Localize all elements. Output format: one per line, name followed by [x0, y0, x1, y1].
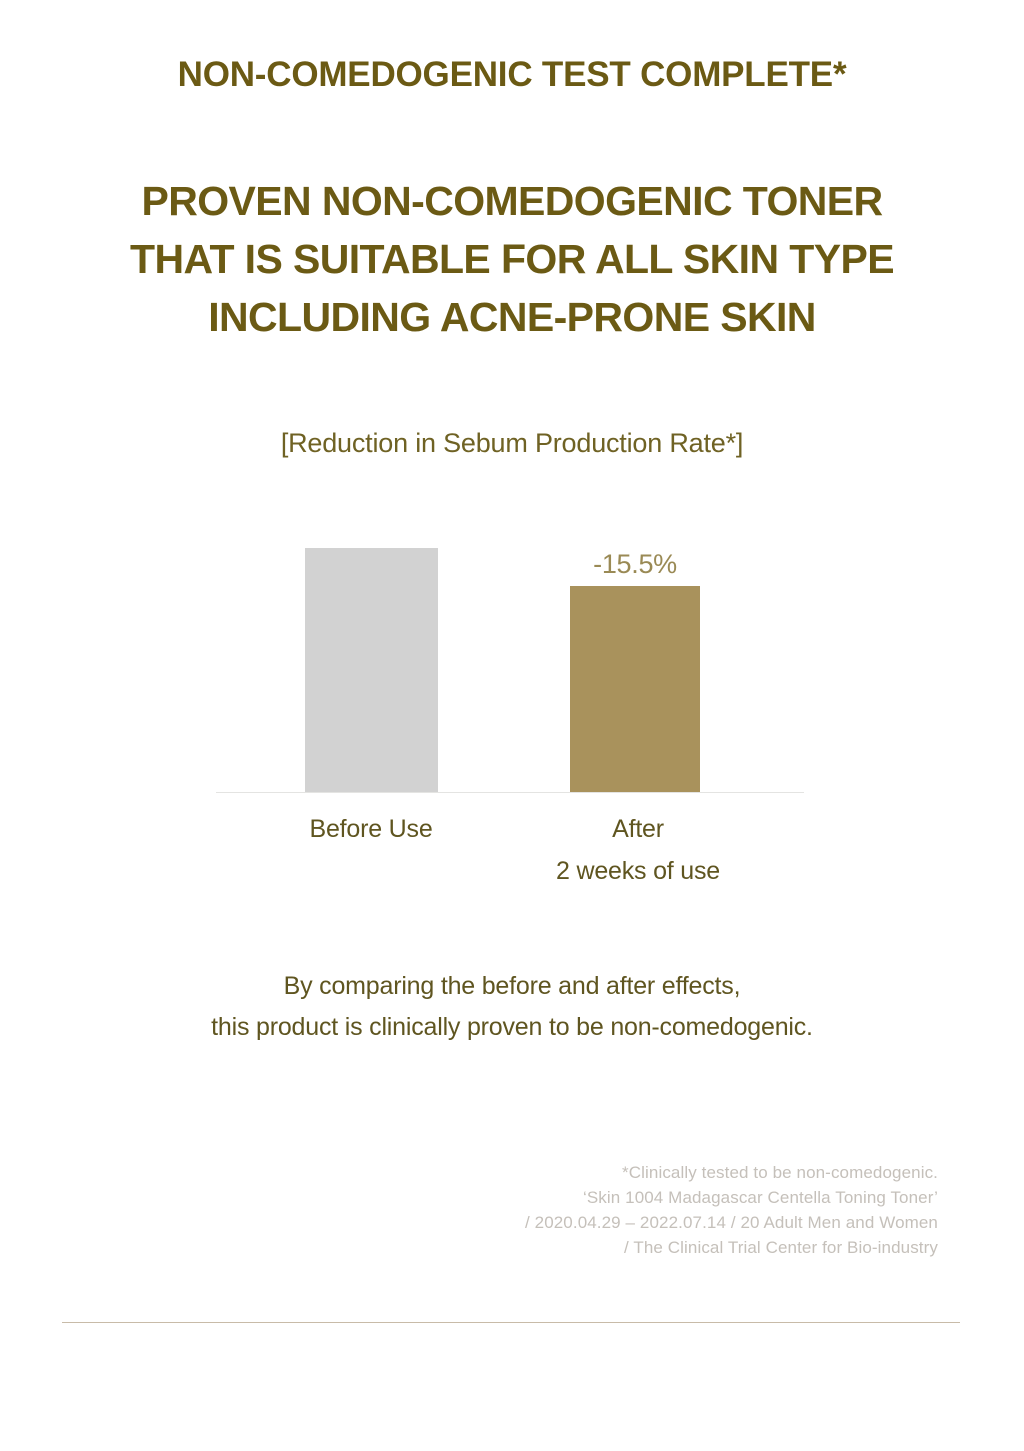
- bar-before-use: [305, 548, 438, 792]
- main-heading-line-1: PROVEN NON-COMEDOGENIC TONER: [0, 172, 1024, 230]
- footnote-line-1: *Clinically tested to be non-comedogenic…: [0, 1160, 938, 1185]
- category-label-after-subtext: 2 weeks of use: [518, 850, 758, 892]
- category-label-after-text: After: [518, 808, 758, 850]
- body-copy-line-1: By comparing the before and after effect…: [0, 966, 1024, 1007]
- main-heading-line-2: THAT IS SUITABLE FOR ALL SKIN TYPE: [0, 230, 1024, 288]
- category-label-before-text: Before Use: [251, 808, 491, 850]
- body-copy: By comparing the before and after effect…: [0, 966, 1024, 1048]
- sebum-reduction-bar-chart: -15.5% Before Use After 2 weeks of use: [0, 520, 1024, 900]
- section-divider: [62, 1322, 960, 1323]
- promo-page: NON-COMEDOGENIC TEST COMPLETE* PROVEN NO…: [0, 0, 1024, 1451]
- chart-category-labels: Before Use After 2 weeks of use: [216, 808, 804, 898]
- footnote-line-3: / 2020.04.29 – 2022.07.14 / 20 Adult Men…: [0, 1210, 938, 1235]
- eyebrow-heading: NON-COMEDOGENIC TEST COMPLETE*: [0, 54, 1024, 96]
- main-heading-line-3: INCLUDING ACNE-PRONE SKIN: [0, 288, 1024, 346]
- footnote-line-2: ‘Skin 1004 Madagascar Centella Toning To…: [0, 1185, 938, 1210]
- chart-baseline-axis: [216, 792, 804, 793]
- footnote-block: *Clinically tested to be non-comedogenic…: [0, 1160, 938, 1260]
- chart-plot-area: -15.5%: [216, 520, 804, 792]
- bar-value-label-after: -15.5%: [546, 549, 724, 580]
- category-label-before: Before Use: [251, 808, 491, 850]
- chart-title: [Reduction in Sebum Production Rate*]: [0, 428, 1024, 459]
- category-label-after: After 2 weeks of use: [518, 808, 758, 892]
- bar-after-2-weeks: [570, 586, 700, 792]
- main-heading: PROVEN NON-COMEDOGENIC TONER THAT IS SUI…: [0, 172, 1024, 346]
- footnote-line-4: / The Clinical Trial Center for Bio-indu…: [0, 1235, 938, 1260]
- body-copy-line-2: this product is clinically proven to be …: [0, 1007, 1024, 1048]
